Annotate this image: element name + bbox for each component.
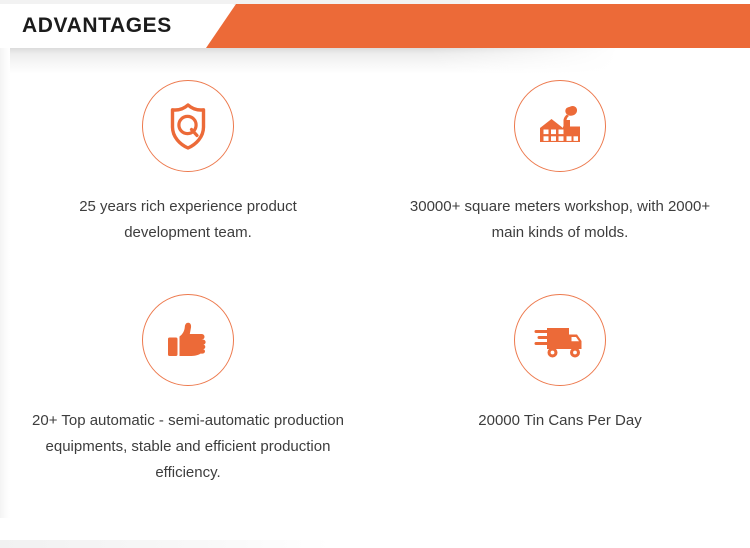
advantages-section: ADVANTAGES 25 years rich experience pr — [0, 0, 750, 548]
advantage-text: 30000+ square meters workshop, with 2000… — [400, 194, 720, 246]
advantage-text: 20+ Top automatic - semi-automatic produ… — [28, 408, 348, 486]
factory-icon — [533, 100, 587, 152]
advantage-item-quality: 25 years rich experience product develop… — [8, 80, 368, 246]
icon-circle — [142, 80, 234, 172]
advantage-item-capacity: 20000 Tin Cans Per Day — [380, 294, 740, 486]
icon-circle — [514, 294, 606, 386]
advantage-text: 25 years rich experience product develop… — [38, 194, 338, 246]
advantage-item-workshop: 30000+ square meters workshop, with 2000… — [380, 80, 740, 246]
advantages-row: 20+ Top automatic - semi-automatic produ… — [0, 294, 750, 486]
advantages-row: 25 years rich experience product develop… — [0, 80, 750, 246]
header-shadow-fade — [430, 48, 650, 74]
icon-circle — [514, 80, 606, 172]
icon-circle — [142, 294, 234, 386]
delivery-truck-icon — [533, 316, 587, 364]
advantage-text: 20000 Tin Cans Per Day — [410, 408, 710, 434]
section-header-banner: ADVANTAGES — [0, 0, 750, 48]
advantages-grid: 25 years rich experience product develop… — [0, 80, 750, 486]
bottom-edge-gradient — [0, 540, 330, 548]
shield-quality-icon — [162, 100, 214, 152]
advantage-item-equipment: 20+ Top automatic - semi-automatic produ… — [8, 294, 368, 486]
thumbs-up-icon — [163, 315, 213, 365]
page-title: ADVANTAGES — [22, 4, 172, 48]
